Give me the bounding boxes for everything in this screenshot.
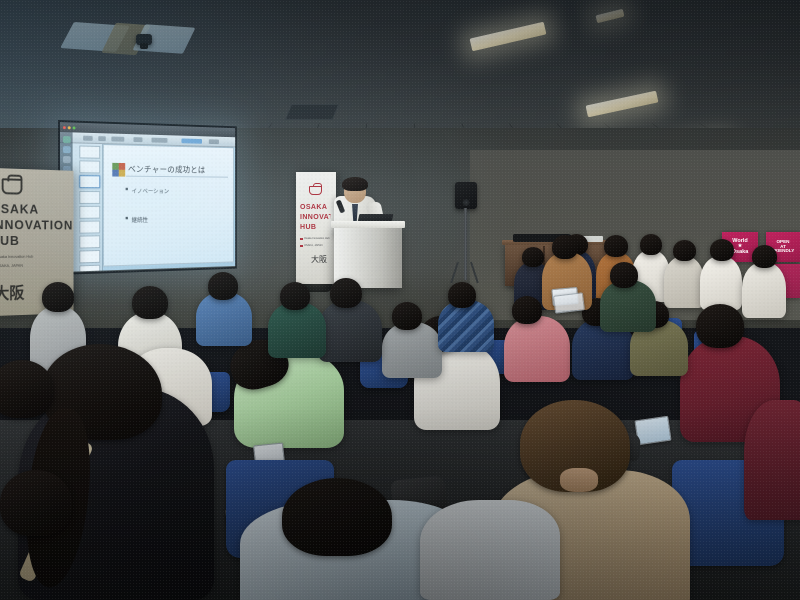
pa-speaker-icon bbox=[455, 182, 477, 209]
banner-left-line1: OSAKA bbox=[0, 202, 39, 216]
banner-center-line3: HUB bbox=[300, 224, 316, 231]
attendee-center-dark-head bbox=[330, 278, 362, 308]
attendee-center-dark-torso bbox=[318, 300, 382, 362]
attendee-left-blue bbox=[196, 292, 252, 346]
toolbar-item-5[interactable] bbox=[151, 138, 167, 143]
attendee-light-blue-shirt-head bbox=[282, 478, 392, 556]
attendee-grey-shirt-head bbox=[392, 302, 422, 330]
pa-speaker-pole bbox=[464, 208, 467, 280]
maximize-icon[interactable] bbox=[73, 126, 76, 129]
poster-world-osaka-line3: Osaka bbox=[732, 250, 749, 256]
attendee-back-6 bbox=[742, 262, 786, 318]
hub-lamp-icon bbox=[2, 178, 23, 194]
slide-thumbnail-7[interactable] bbox=[79, 235, 100, 248]
banner-center-line1: OSAKA bbox=[300, 204, 327, 211]
banner-left-sub2: OSAKA, JAPAN bbox=[0, 263, 23, 268]
keynote-window: ベンチャーの成功とは イノベーション 継続性 bbox=[60, 122, 236, 272]
attendee-center-teal-head bbox=[280, 282, 310, 310]
attendee-upper-left-1-head bbox=[42, 282, 74, 312]
attendee-left-blue-torso bbox=[196, 292, 252, 346]
toolbar-item-6[interactable] bbox=[181, 138, 202, 143]
slide-canvas[interactable]: ベンチャーの成功とは イノベーション 継続性 bbox=[103, 144, 234, 267]
attendee-khaki-sweater-neck bbox=[560, 468, 598, 492]
banner-left-sub1: Osaka Innovation Hub bbox=[0, 254, 33, 259]
toolbar-item-1[interactable] bbox=[83, 136, 92, 141]
slide-thumbnail-5[interactable] bbox=[79, 206, 100, 219]
toolbar-item-2[interactable] bbox=[98, 136, 105, 141]
attendee-back-6-torso bbox=[742, 262, 786, 318]
toolbar-item-4[interactable] bbox=[133, 137, 142, 142]
attendee-center-dark bbox=[318, 300, 382, 362]
banner-left-line3: HUB bbox=[0, 234, 20, 247]
banner-left-line2: INNOVATION bbox=[0, 218, 73, 231]
dock-icon-3[interactable] bbox=[62, 156, 70, 163]
close-icon[interactable] bbox=[63, 126, 66, 129]
slide-thumbnail-3-selected[interactable] bbox=[79, 175, 100, 188]
slide-title-rule bbox=[126, 176, 228, 178]
toolbar-item-3[interactable] bbox=[111, 136, 124, 141]
attendee-maroon-sweater-head bbox=[696, 304, 744, 348]
attendee-tan-jacket-head bbox=[552, 235, 578, 259]
slide-thumbnail-4[interactable] bbox=[79, 191, 100, 204]
slide-bullet-1: イノベーション bbox=[132, 186, 229, 195]
attendee-plaid-shirt bbox=[438, 300, 494, 352]
attendee-back-5-torso bbox=[700, 256, 742, 310]
attendee-back-4-torso bbox=[664, 256, 704, 308]
hub-lamp-icon-center bbox=[309, 186, 322, 195]
attendee-back-5-head bbox=[710, 239, 734, 261]
laptop-device-upper-right[interactable] bbox=[553, 292, 585, 314]
attendee-center-teal bbox=[268, 302, 326, 358]
attendee-back-2-head bbox=[604, 235, 628, 257]
banner-center-sub2: OSAKA, JAPAN bbox=[304, 244, 323, 247]
banner-left-kanji: 大阪 bbox=[0, 279, 24, 304]
attendee-green-shirt bbox=[234, 352, 344, 448]
attendee-right-edge bbox=[744, 400, 800, 520]
slide-thumbnail-2[interactable] bbox=[79, 160, 100, 173]
attendee-upper-left-2-head bbox=[132, 286, 168, 319]
slide-thumbnail-6[interactable] bbox=[79, 221, 100, 234]
slide-logo-icon bbox=[112, 163, 126, 177]
attendee-white-tshirt-front bbox=[420, 500, 560, 600]
toolbar-item-7[interactable] bbox=[209, 139, 219, 144]
slide-navigator[interactable] bbox=[73, 143, 103, 271]
attendee-pink-shirt-head bbox=[512, 296, 542, 324]
slide-bullet-2: 継続性 bbox=[132, 215, 229, 225]
attendee-dark-green-shirt bbox=[600, 280, 656, 332]
attendee-white-tshirt-front-torso bbox=[420, 500, 560, 600]
attendee-grey-shirt bbox=[382, 322, 442, 378]
slide-thumbnail-1[interactable] bbox=[79, 145, 100, 158]
slide-title: ベンチャーの成功とは bbox=[128, 163, 229, 176]
attendee-dark-green-shirt-head bbox=[610, 262, 638, 288]
attendee-bottom-left-head bbox=[0, 470, 72, 536]
attendee-grey-shirt-torso bbox=[382, 322, 442, 378]
seminar-room-photo: ベンチャーの成功とは イノベーション 継続性 OSAKA INNOVATION … bbox=[0, 0, 800, 600]
attendee-back-4-head bbox=[673, 240, 696, 261]
banner-center-kanji: 大阪 bbox=[311, 254, 327, 265]
attendee-left-blue-head bbox=[208, 272, 238, 300]
dock-icon-2[interactable] bbox=[62, 146, 70, 153]
projection-screen: ベンチャーの成功とは イノベーション 継続性 bbox=[60, 122, 236, 272]
attendee-pink-shirt-torso bbox=[504, 316, 570, 382]
slide-thumbnail-8[interactable] bbox=[79, 250, 100, 263]
attendee-right-edge-torso bbox=[744, 400, 800, 520]
minimize-icon[interactable] bbox=[68, 126, 71, 129]
attendee-back-7-head bbox=[522, 247, 544, 267]
banner-center-sub1: Osaka Innovation Hub bbox=[304, 237, 330, 240]
attendee-back-5 bbox=[700, 256, 742, 310]
dock-icon-1[interactable] bbox=[62, 136, 70, 143]
attendee-back-4 bbox=[664, 256, 704, 308]
attendee-pink-shirt bbox=[504, 316, 570, 382]
attendee-plaid-shirt-head bbox=[448, 282, 476, 308]
speaker-hair bbox=[342, 177, 368, 191]
attendee-back-6-head bbox=[752, 245, 777, 268]
attendee-back-3-head bbox=[640, 234, 662, 255]
attendee-center-teal-torso bbox=[268, 302, 326, 358]
podium-top-surface bbox=[331, 221, 405, 228]
